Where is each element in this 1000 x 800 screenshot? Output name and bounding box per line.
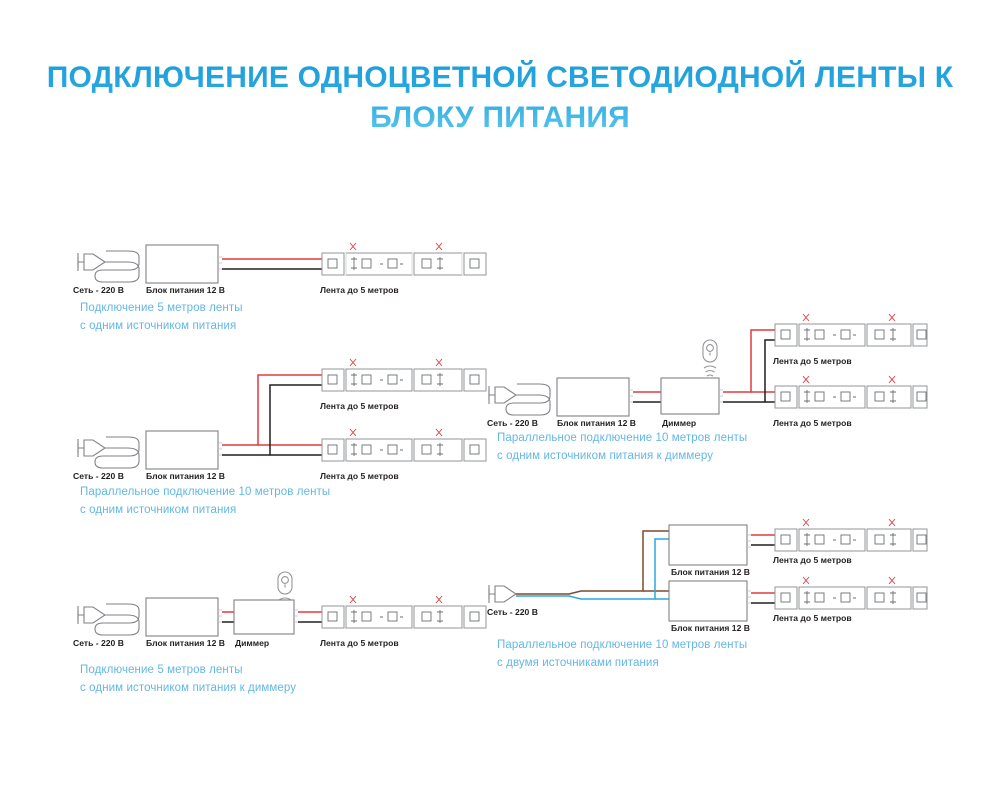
mains-plug-icon (489, 384, 550, 415)
label-strip: Лента до 5 метров (320, 285, 399, 295)
diagram-4: Сеть - 220 В Блок питания 12 В Диммер Ле… (485, 318, 925, 418)
label-strip-upper: Лента до 5 метров (773, 555, 852, 565)
label-psu-lower: Блок питания 12 В (671, 623, 750, 633)
diagram-2: Сеть - 220 В Блок питания 12 В Лента до … (70, 363, 490, 473)
label-strip: Лента до 5 метров (320, 638, 399, 648)
label-mains: Сеть - 220 В (487, 418, 538, 428)
power-supply-block-upper (669, 525, 751, 565)
label-mains: Сеть - 220 В (73, 471, 124, 481)
diagram-1: Сеть - 220 В Блок питания 12 В Лента до … (70, 233, 490, 293)
led-strip-upper (775, 314, 927, 346)
remote-control-icon (703, 340, 717, 376)
cut-mark-icon (803, 519, 895, 526)
dimmer-block (661, 378, 723, 414)
label-psu: Блок питания 12 В (557, 418, 636, 428)
label-dimmer: Диммер (662, 418, 696, 428)
cut-mark-icon (803, 577, 895, 584)
diagram-3: Сеть - 220 В Блок питания 12 В Диммер Ле… (70, 570, 490, 640)
wire-black (751, 545, 777, 603)
cut-mark-icon (803, 314, 895, 321)
power-supply-block (146, 245, 222, 283)
power-supply-block (146, 431, 222, 469)
label-dimmer: Диммер (235, 638, 269, 648)
label-mains: Сеть - 220 В (73, 285, 124, 295)
label-psu: Блок питания 12 В (146, 638, 225, 648)
wire-blue (516, 539, 669, 599)
caption-diagram-2: Параллельное подключение 10 метров ленты… (80, 484, 330, 520)
label-strip-upper: Лента до 5 метров (320, 401, 399, 411)
label-strip-lower: Лента до 5 метров (320, 471, 399, 481)
diagram-5: Сеть - 220 В Блок питания 12 В Блок пита… (485, 523, 925, 628)
label-psu-upper: Блок питания 12 В (671, 567, 750, 577)
caption-diagram-3: Подключение 5 метров ленты с одним источ… (80, 662, 296, 698)
label-psu: Блок питания 12 В (146, 285, 225, 295)
power-supply-block (146, 598, 222, 636)
label-psu: Блок питания 12 В (146, 471, 225, 481)
wire-brown (516, 531, 669, 594)
label-mains: Сеть - 220 В (73, 638, 124, 648)
led-strip (322, 596, 486, 628)
power-supply-block-lower (669, 581, 751, 621)
dimmer-block (234, 600, 298, 634)
mains-plug-icon (489, 585, 516, 603)
page-title: ПОДКЛЮЧЕНИЕ ОДНОЦВЕТНОЙ СВЕТОДИОДНОЙ ЛЕН… (0, 58, 1000, 137)
cut-mark-icon (350, 243, 442, 250)
cut-mark-icon (803, 376, 895, 383)
led-strip-lower (775, 376, 927, 408)
led-strip-upper (775, 519, 927, 551)
label-mains: Сеть - 220 В (487, 607, 538, 617)
cut-mark-icon (350, 359, 442, 366)
mains-plug-icon (78, 251, 139, 282)
mains-plug-icon (78, 437, 139, 468)
label-strip-upper: Лента до 5 метров (773, 356, 852, 366)
caption-diagram-4: Параллельное подключение 10 метров ленты… (497, 430, 747, 466)
caption-diagram-5: Параллельное подключение 10 метров ленты… (497, 637, 747, 673)
led-strip-lower (775, 577, 927, 609)
caption-diagram-1: Подключение 5 метров ленты с одним источ… (80, 300, 243, 336)
cut-mark-icon (350, 429, 442, 436)
label-strip-lower: Лента до 5 метров (773, 418, 852, 428)
cut-mark-icon (350, 596, 442, 603)
led-strip (322, 243, 486, 275)
led-strip-upper (322, 359, 486, 391)
power-supply-block (557, 378, 633, 416)
label-strip-lower: Лента до 5 метров (773, 613, 852, 623)
mains-plug-icon (78, 604, 139, 635)
led-strip-lower (322, 429, 486, 461)
